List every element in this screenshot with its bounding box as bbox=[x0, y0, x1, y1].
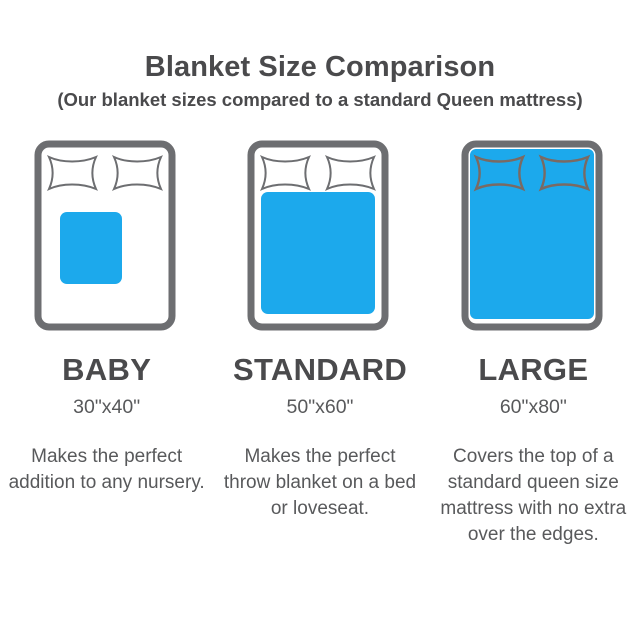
pillow-icon bbox=[114, 157, 161, 189]
bed-diagram-baby bbox=[34, 140, 179, 340]
size-description-baby: Makes the perfect addition to any nurser… bbox=[7, 444, 207, 496]
blanket-overlay-icon bbox=[470, 149, 594, 319]
page-subtitle: (Our blanket sizes compared to a standar… bbox=[0, 89, 640, 111]
blanket-overlay-icon bbox=[261, 192, 375, 314]
pillow-icon bbox=[327, 157, 374, 189]
blanket-overlay-icon bbox=[60, 212, 122, 284]
pillow-icon bbox=[49, 157, 96, 189]
bed-top-view-icon bbox=[461, 140, 606, 335]
comparison-column-standard: STANDARD 50"x60" Makes the perfect throw… bbox=[213, 140, 426, 522]
pillow-icon bbox=[262, 157, 309, 189]
blanket-size-comparison-infographic: Blanket Size Comparison (Our blanket siz… bbox=[0, 0, 640, 640]
size-name-large: LARGE bbox=[478, 354, 588, 385]
size-dimensions-baby: 30"x40" bbox=[73, 398, 140, 418]
heading-block: Blanket Size Comparison (Our blanket siz… bbox=[0, 52, 640, 112]
comparison-column-baby: BABY 30"x40" Makes the perfect addition … bbox=[0, 140, 213, 496]
size-name-baby: BABY bbox=[62, 354, 151, 385]
size-description-standard: Makes the perfect throw blanket on a bed… bbox=[220, 444, 420, 522]
size-dimensions-standard: 50"x60" bbox=[287, 398, 354, 418]
size-name-standard: STANDARD bbox=[233, 354, 407, 385]
size-description-large: Covers the top of a standard queen size … bbox=[433, 444, 633, 548]
bed-diagram-large bbox=[461, 140, 606, 340]
size-dimensions-large: 60"x80" bbox=[500, 398, 567, 418]
bed-top-view-icon bbox=[34, 140, 179, 335]
comparison-column-large: LARGE 60"x80" Covers the top of a standa… bbox=[427, 140, 640, 548]
page-title: Blanket Size Comparison bbox=[0, 52, 640, 82]
bed-top-view-icon bbox=[247, 140, 392, 335]
comparison-columns: BABY 30"x40" Makes the perfect addition … bbox=[0, 140, 640, 548]
bed-diagram-standard bbox=[247, 140, 392, 340]
